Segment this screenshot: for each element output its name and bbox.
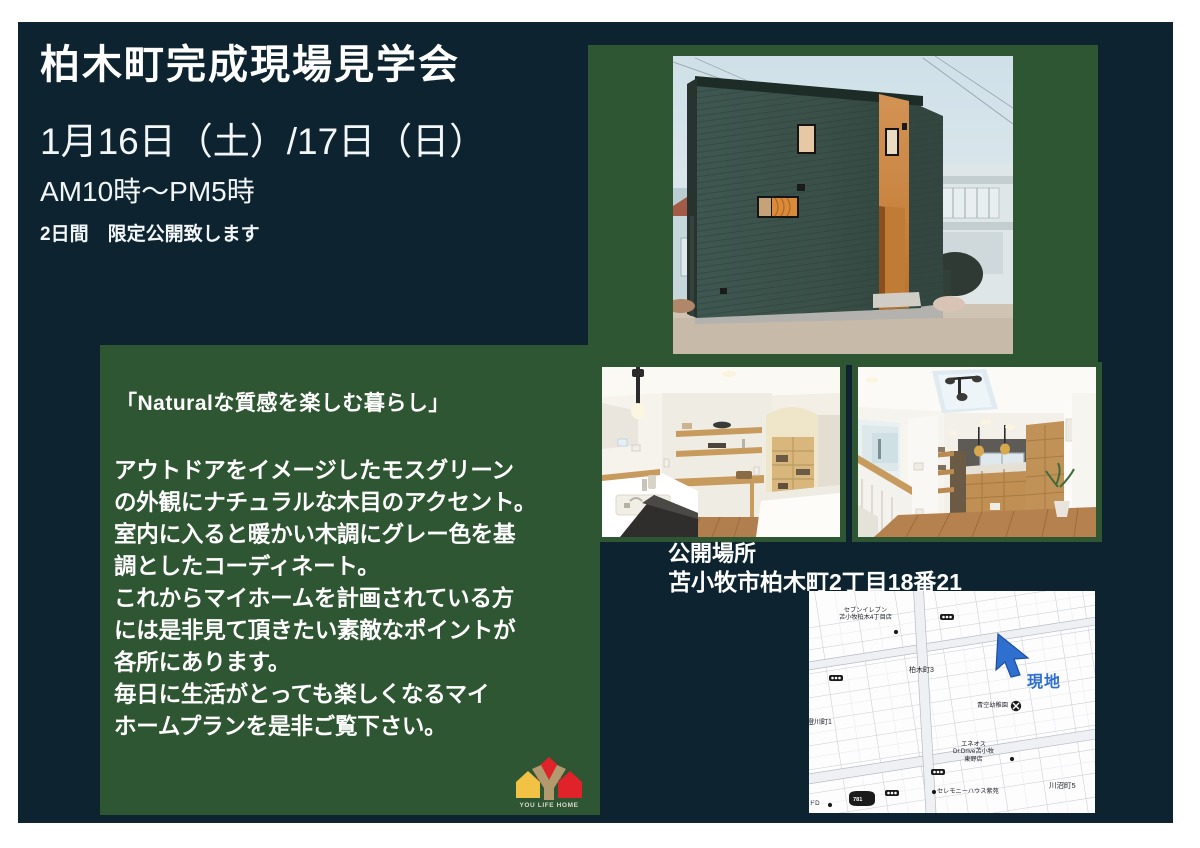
venue-label: 公開場所 <box>668 540 962 568</box>
concept-body: アウトドアをイメージしたモスグリーン の外観にナチュラルな木目のアクセント。 室… <box>114 455 592 742</box>
map-here-label: 現地 <box>1027 668 1061 692</box>
map-label: エネオスDr.Drive苫小牧東野店 <box>953 741 994 763</box>
venue-block: 公開場所 苫小牧市柏木町2丁目18番21 <box>668 540 962 596</box>
photo-kitchen-interior <box>596 362 846 542</box>
map-label: セレモニーハウス紫苑 <box>937 788 999 795</box>
event-note: 2日間 限定公開致します <box>40 225 560 246</box>
location-map[interactable]: セブンイレブン苫小牧柏木4丁目店 柏木町3 青空幼稚園 澄川町1 漁 エネオスD… <box>809 591 1095 813</box>
map-label: 781 <box>853 797 862 804</box>
brand-name: YOU LIFE HOME <box>508 802 590 809</box>
photo-living-interior <box>852 362 1102 542</box>
map-label: 青空幼稚園 <box>977 702 1008 709</box>
headline-block: 柏木町完成現場見学会 1月16日（土）/17日（日） AM10時〜PM5時 2日… <box>40 42 560 246</box>
you-life-home-logo-icon <box>508 755 590 803</box>
event-hours: AM10時〜PM5時 <box>40 177 560 208</box>
map-graphic <box>809 591 1095 813</box>
map-label: 柏木町3 <box>909 667 934 675</box>
brand-logo: YOU LIFE HOME <box>508 755 590 815</box>
map-label: 川沼町5 <box>1049 781 1076 790</box>
event-date: 1月16日（土）/17日（日） <box>40 122 560 163</box>
photo-exterior-house <box>588 45 1098 365</box>
map-label: ドD <box>809 800 820 807</box>
concept-heading: 「Naturalな質感を楽しむ暮らし」 <box>116 387 450 417</box>
page-title: 柏木町完成現場見学会 <box>40 42 560 88</box>
map-label: セブンイレブン苫小牧柏木4丁目店 <box>839 607 892 622</box>
concept-panel: 「Naturalな質感を楽しむ暮らし」 アウトドアをイメージしたモスグリーン の… <box>100 345 600 815</box>
map-label: 澄川町1 <box>809 719 832 727</box>
